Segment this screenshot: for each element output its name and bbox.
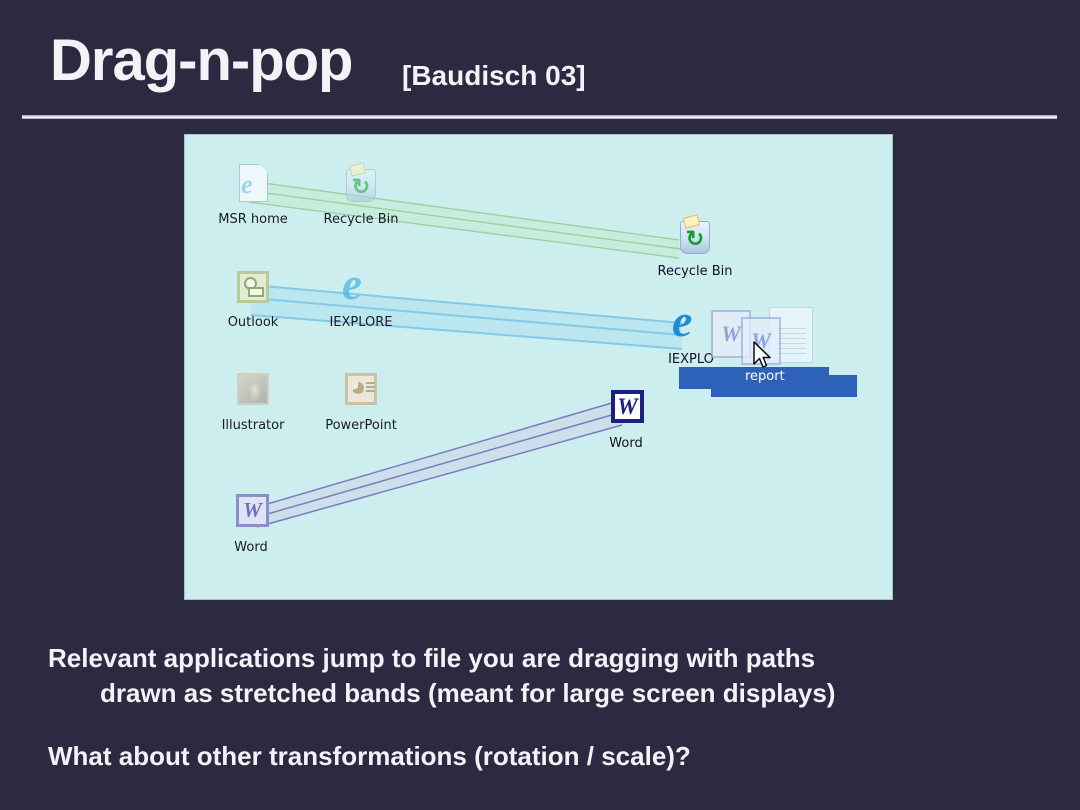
desktop-icon-label: Illustrator bbox=[205, 419, 301, 433]
popped-icon-label: Word bbox=[578, 437, 674, 451]
recycle-bin-icon: ↻ bbox=[672, 215, 718, 261]
desktop-icon-illustrator[interactable]: Illustrator bbox=[205, 369, 301, 433]
desktop-icon-word-source[interactable]: W Word bbox=[203, 491, 299, 555]
popped-icon-word[interactable]: W Word bbox=[578, 387, 674, 451]
word-icon: W bbox=[228, 491, 274, 537]
slide-header: Drag-n-pop [Baudisch 03] bbox=[0, 0, 1080, 120]
desktop-icon-label: PowerPoint bbox=[313, 419, 409, 433]
body-text-line-2: drawn as stretched bands (meant for larg… bbox=[100, 678, 835, 709]
powerpoint-icon bbox=[338, 369, 384, 415]
title-divider bbox=[22, 115, 1057, 119]
desktop-icon-recycle-bin[interactable]: ↻ Recycle Bin bbox=[313, 163, 409, 227]
outlook-icon bbox=[230, 266, 276, 312]
body-text-line-3: What about other transformations (rotati… bbox=[48, 741, 691, 772]
desktop-icon-label: Outlook bbox=[205, 316, 301, 330]
desktop-icon-label: IEXPLORE bbox=[313, 316, 409, 330]
recycle-bin-icon: ↻ bbox=[338, 163, 384, 209]
body-text-line-1: Relevant applications jump to file you a… bbox=[48, 643, 815, 674]
popped-icon-recycle-bin[interactable]: ↻ Recycle Bin bbox=[647, 215, 743, 279]
ie-document-icon: e bbox=[230, 163, 276, 209]
desktop-icon-label: Recycle Bin bbox=[313, 213, 409, 227]
desktop-icon-label: MSR home bbox=[205, 213, 301, 227]
page-title: Drag-n-pop bbox=[50, 32, 353, 90]
word-icon: W bbox=[603, 387, 649, 433]
popped-icon-label: Recycle Bin bbox=[647, 265, 743, 279]
drag-n-pop-figure: e MSR home ↻ Recycle Bin Outlook e IEXPL… bbox=[184, 134, 893, 600]
arrow-cursor bbox=[753, 341, 773, 371]
internet-explorer-icon: e bbox=[338, 266, 384, 312]
title-citation: [Baudisch 03] bbox=[402, 62, 586, 90]
desktop-icon-msr-home[interactable]: e MSR home bbox=[205, 163, 301, 227]
desktop-icon-outlook[interactable]: Outlook bbox=[205, 266, 301, 330]
desktop-icon-label: Word bbox=[203, 541, 299, 555]
band-word bbox=[257, 400, 622, 527]
illustrator-icon bbox=[230, 369, 276, 415]
desktop-icon-iexplore[interactable]: e IEXPLORE bbox=[313, 266, 409, 330]
dragged-file-label: report bbox=[745, 369, 785, 384]
desktop-icon-powerpoint[interactable]: PowerPoint bbox=[313, 369, 409, 433]
